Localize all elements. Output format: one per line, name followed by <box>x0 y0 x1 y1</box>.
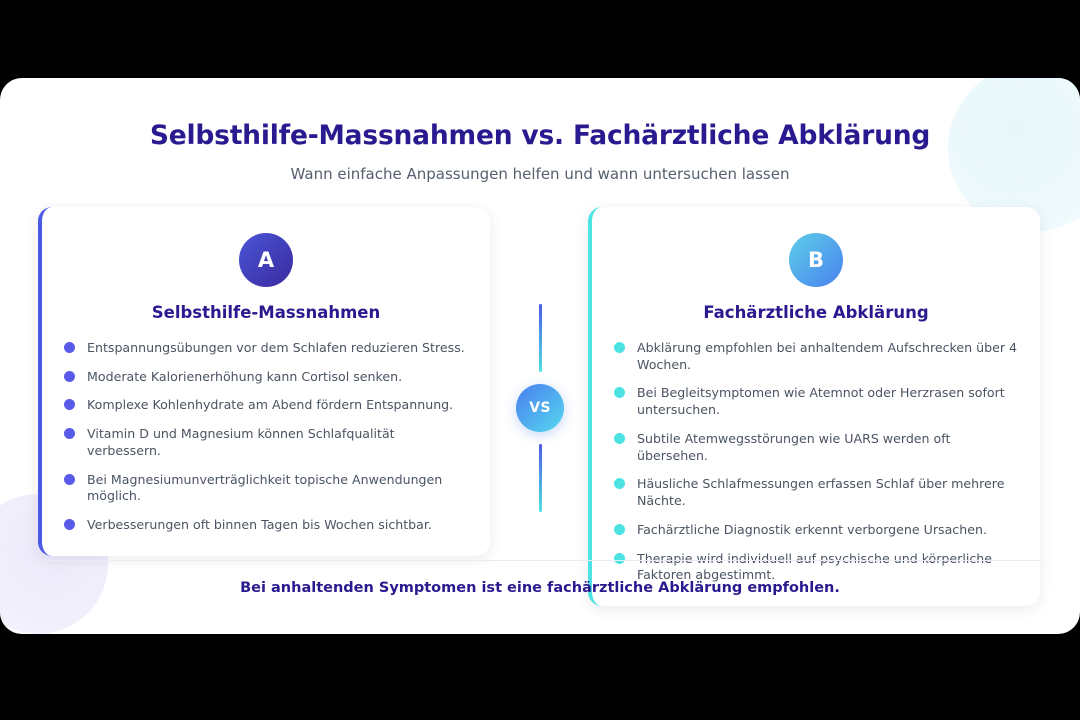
bullet-dot-icon <box>64 371 75 382</box>
bullet-dot-icon <box>614 342 625 353</box>
list-item-text: Häusliche Schlafmessungen erfassen Schla… <box>637 476 1018 509</box>
list-item: Abklärung empfohlen bei anhaltendem Aufs… <box>614 340 1018 373</box>
card-b-bullet-list: Abklärung empfohlen bei anhaltendem Aufs… <box>614 340 1018 584</box>
bullet-dot-icon <box>614 387 625 398</box>
footer-note: Bei anhaltenden Symptomen ist eine fachä… <box>0 580 1080 596</box>
list-item: Fachärztliche Diagnostik erkennt verborg… <box>614 522 1018 539</box>
list-item-text: Bei Begleitsymptomen wie Atemnot oder He… <box>637 385 1018 418</box>
vs-line-top <box>539 304 542 372</box>
bullet-dot-icon <box>614 553 625 564</box>
list-item-text: Vitamin D und Magnesium können Schlafqua… <box>87 426 468 459</box>
page-subtitle: Wann einfache Anpassungen helfen und wan… <box>0 165 1080 183</box>
card-a-bullet-list: Entspannungsübungen vor dem Schlafen red… <box>64 340 468 534</box>
vs-divider: VS <box>516 207 564 547</box>
bullet-dot-icon <box>614 478 625 489</box>
comparison-card-a: A Selbsthilfe-Massnahmen Entspannungsübu… <box>38 207 490 556</box>
list-item-text: Subtile Atemwegsstörungen wie UARS werde… <box>637 431 1018 464</box>
card-b-title: Fachärztliche Abklärung <box>614 303 1018 322</box>
infographic-canvas: Selbsthilfe-Massnahmen vs. Fachärztliche… <box>0 78 1080 634</box>
footer-divider <box>38 560 1042 561</box>
list-item: Moderate Kalorienerhöhung kann Cortisol … <box>64 369 468 386</box>
list-item-text: Komplexe Kohlenhydrate am Abend fördern … <box>87 397 468 414</box>
header: Selbsthilfe-Massnahmen vs. Fachärztliche… <box>0 78 1080 183</box>
bullet-dot-icon <box>614 433 625 444</box>
list-item-text: Abklärung empfohlen bei anhaltendem Aufs… <box>637 340 1018 373</box>
vs-badge: VS <box>516 384 564 432</box>
vs-line-bottom <box>539 444 542 512</box>
list-item: Häusliche Schlafmessungen erfassen Schla… <box>614 476 1018 509</box>
list-item-text: Verbesserungen oft binnen Tagen bis Woch… <box>87 517 468 534</box>
page-title: Selbsthilfe-Massnahmen vs. Fachärztliche… <box>0 120 1080 151</box>
list-item-text: Fachärztliche Diagnostik erkennt verborg… <box>637 522 1018 539</box>
list-item: Komplexe Kohlenhydrate am Abend fördern … <box>64 397 468 414</box>
badge-b-letter: B <box>808 248 824 272</box>
badge-a-letter: A <box>258 248 274 272</box>
list-item: Bei Magnesiumunverträglichkeit topische … <box>64 472 468 505</box>
list-item: Bei Begleitsymptomen wie Atemnot oder He… <box>614 385 1018 418</box>
bullet-dot-icon <box>614 524 625 535</box>
list-item-text: Moderate Kalorienerhöhung kann Cortisol … <box>87 369 468 386</box>
list-item: Vitamin D und Magnesium können Schlafqua… <box>64 426 468 459</box>
list-item: Subtile Atemwegsstörungen wie UARS werde… <box>614 431 1018 464</box>
bullet-dot-icon <box>64 399 75 410</box>
comparison-card-b: B Fachärztliche Abklärung Abklärung empf… <box>588 207 1040 606</box>
comparison-columns: A Selbsthilfe-Massnahmen Entspannungsübu… <box>0 207 1080 547</box>
list-item-text: Entspannungsübungen vor dem Schlafen red… <box>87 340 468 357</box>
list-item-text: Bei Magnesiumunverträglichkeit topische … <box>87 472 468 505</box>
bullet-dot-icon <box>64 474 75 485</box>
bullet-dot-icon <box>64 519 75 530</box>
bullet-dot-icon <box>64 428 75 439</box>
list-item: Entspannungsübungen vor dem Schlafen red… <box>64 340 468 357</box>
list-item: Verbesserungen oft binnen Tagen bis Woch… <box>64 517 468 534</box>
badge-a: A <box>239 233 293 287</box>
badge-b: B <box>789 233 843 287</box>
card-a-title: Selbsthilfe-Massnahmen <box>64 303 468 322</box>
bullet-dot-icon <box>64 342 75 353</box>
vs-label: VS <box>529 400 551 416</box>
